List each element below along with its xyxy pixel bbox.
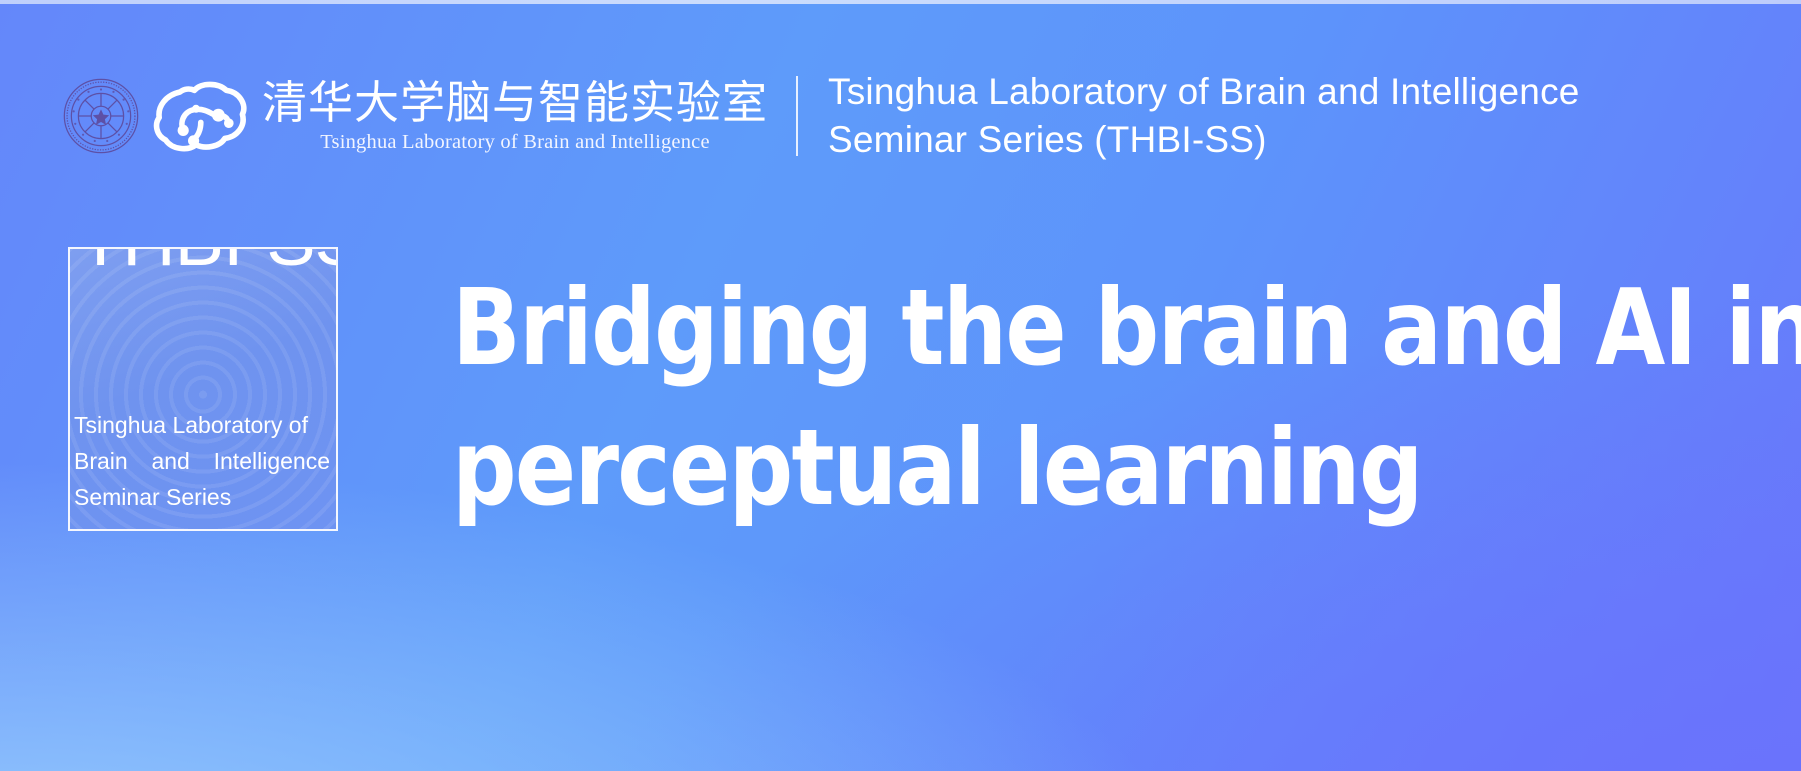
card-subtitle: Tsinghua Laboratory of Brain and Intelli… bbox=[74, 407, 330, 515]
banner-header: 清华大学脑与智能实验室 Tsinghua Laboratory of Brain… bbox=[62, 62, 1580, 170]
series-title-line2: Seminar Series (THBI-SS) bbox=[828, 116, 1580, 164]
seminar-banner: 清华大学脑与智能实验室 Tsinghua Laboratory of Brain… bbox=[0, 0, 1801, 771]
card-ripple-background: THBI-SS Tsinghua Laboratory of Brain and… bbox=[70, 249, 336, 529]
header-divider bbox=[796, 76, 798, 156]
talk-title-line2: perceptual learning bbox=[452, 398, 1467, 538]
lab-name-block: 清华大学脑与智能实验室 Tsinghua Laboratory of Brain… bbox=[262, 78, 768, 154]
series-title-line1: Tsinghua Laboratory of Brain and Intelli… bbox=[828, 68, 1580, 116]
card-subtitle-line1: Tsinghua Laboratory of bbox=[74, 407, 330, 443]
brain-network-logo-icon bbox=[148, 76, 256, 156]
seminar-series-title: Tsinghua Laboratory of Brain and Intelli… bbox=[828, 68, 1580, 164]
thbi-ss-card: THBI-SS Tsinghua Laboratory of Brain and… bbox=[68, 247, 338, 531]
card-subtitle-line3: Seminar Series bbox=[74, 479, 330, 515]
card-title: THBI-SS bbox=[78, 249, 336, 277]
tsinghua-university-seal-icon bbox=[62, 77, 140, 155]
lab-name-en: Tsinghua Laboratory of Brain and Intelli… bbox=[262, 130, 768, 154]
top-hairline bbox=[0, 0, 1801, 4]
talk-title-line1: Bridging the brain and AI in bbox=[452, 258, 1467, 398]
talk-title: Bridging the brain and AI in perceptual … bbox=[452, 258, 1467, 538]
lab-name-cn: 清华大学脑与智能实验室 bbox=[262, 78, 768, 128]
card-subtitle-line2: Brain and Intelligence bbox=[74, 443, 330, 479]
